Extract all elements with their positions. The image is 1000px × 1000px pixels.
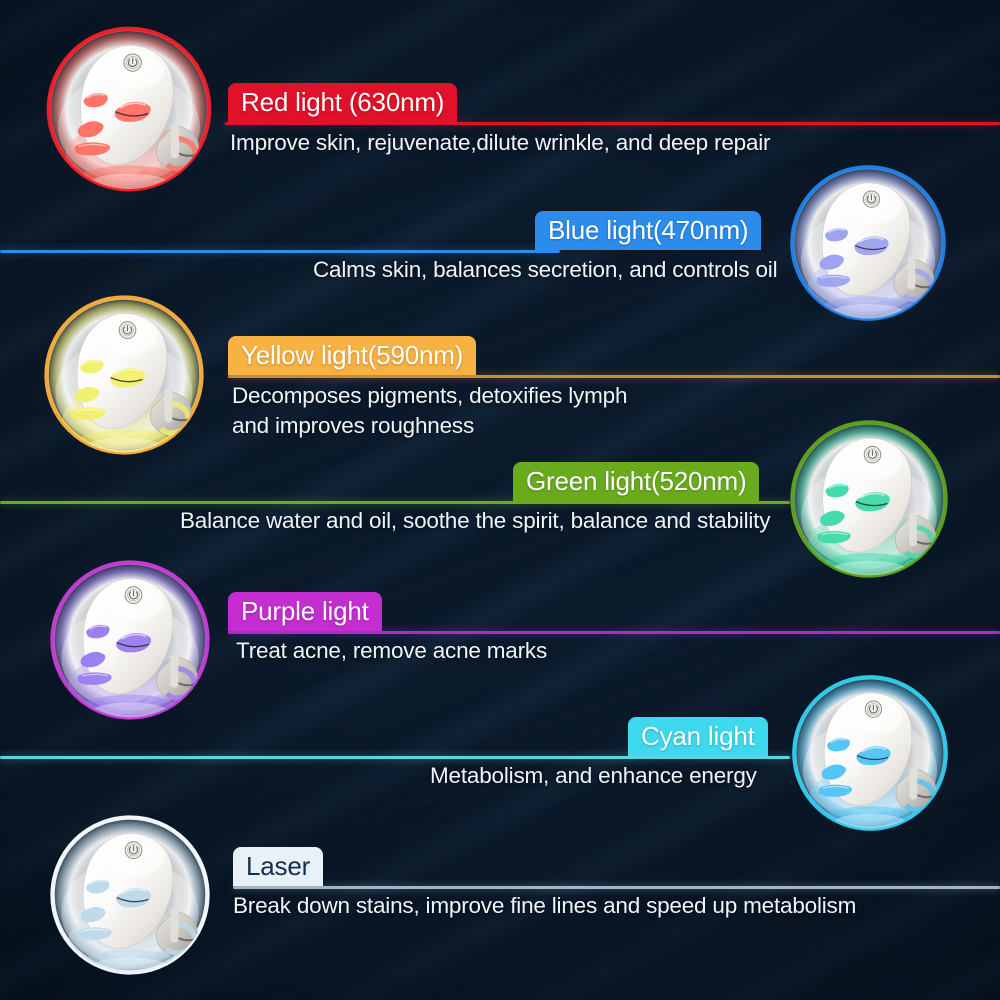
background-vignette (0, 0, 1000, 1000)
background (0, 0, 1000, 1000)
